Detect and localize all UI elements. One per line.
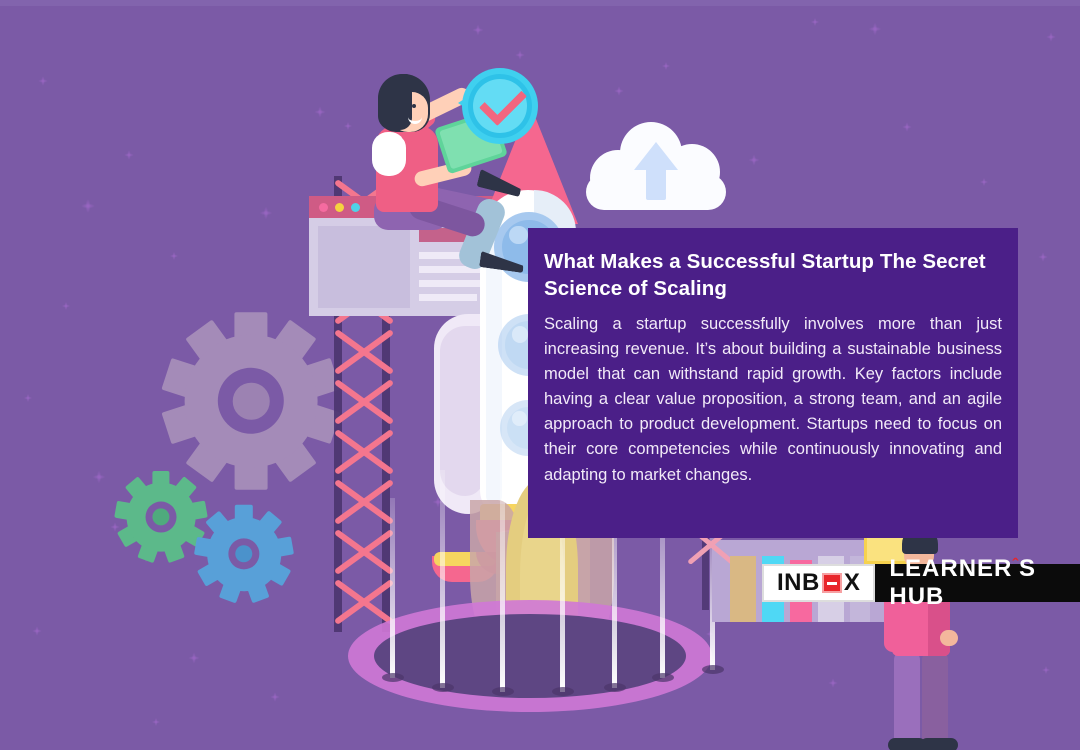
sparkle-icon <box>900 120 914 134</box>
sparkle-icon <box>78 196 98 216</box>
sparkle-icon <box>90 468 108 486</box>
beam-foot <box>702 665 724 674</box>
sparkle-icon <box>746 152 762 168</box>
man-shoe-right <box>920 738 958 750</box>
tower-x-brace <box>332 326 394 376</box>
check-badge-icon <box>462 68 538 144</box>
tower-x-brace <box>332 476 394 526</box>
logo-inbox-block: INBX <box>762 564 875 602</box>
upload-arrow-icon <box>634 142 678 200</box>
logo-learner: LEARNER <box>889 555 1012 582</box>
light-beam <box>390 498 395 678</box>
sparkle-icon <box>122 148 136 162</box>
sparkle-icon <box>36 74 50 88</box>
man-hand <box>940 630 958 646</box>
woman-hair-front <box>378 74 412 130</box>
sparkle-icon <box>978 176 990 188</box>
tower-x-brace <box>332 376 394 426</box>
gear-pin <box>233 383 270 420</box>
chart-bar <box>730 556 756 622</box>
sparkle-icon <box>257 204 275 222</box>
woman-eye <box>412 104 416 108</box>
logo-box-icon <box>822 573 842 593</box>
logo-inb: INB <box>777 569 820 597</box>
page-title: What Makes a Successful Startup The Secr… <box>544 248 1002 302</box>
light-beam <box>500 452 505 692</box>
sparkle-icon <box>470 22 486 38</box>
sparkle-icon <box>150 716 162 728</box>
logo-learners-hub-text: LEARNERˆS HUB <box>889 555 1066 611</box>
beam-foot <box>552 687 574 696</box>
logo-learners-hub-block: LEARNERˆS HUB <box>875 564 1080 602</box>
beam-foot <box>432 683 454 692</box>
arrow-shaft <box>646 166 666 200</box>
sparkle-icon <box>513 48 527 62</box>
sparkle-icon <box>268 690 282 704</box>
sparkle-icon <box>866 20 884 38</box>
browser-dot-minimize-icon <box>335 203 344 212</box>
beam-foot <box>652 673 674 682</box>
launch-platform <box>348 600 712 712</box>
sparkle-icon <box>186 650 202 666</box>
article-card: What Makes a Successful Startup The Secr… <box>528 228 1018 538</box>
sparkle-icon <box>60 300 72 312</box>
beam-foot <box>492 687 514 696</box>
top-accent-strip <box>0 0 1080 6</box>
tower-x-brace <box>332 426 394 476</box>
poster-canvas: What Makes a Successful Startup The Secr… <box>0 0 1080 750</box>
sparkle-icon <box>168 250 180 262</box>
browser-dot-close-icon <box>319 203 328 212</box>
tower-x-brace <box>332 526 394 576</box>
brand-logo[interactable]: INBX LEARNERˆS HUB <box>762 564 1080 602</box>
beam-foot <box>604 683 626 692</box>
man-leg-left <box>894 650 920 750</box>
sparkle-icon <box>312 104 328 120</box>
logo-apostrophe: ˆ <box>1012 555 1019 574</box>
sparkle-icon <box>30 624 44 638</box>
sparkle-icon <box>1044 30 1058 44</box>
light-beam <box>440 470 445 688</box>
sparkle-icon <box>826 676 840 690</box>
sparkle-icon <box>809 16 821 28</box>
platform-inner <box>374 614 686 698</box>
article-body: Scaling a startup successfully involves … <box>544 312 1002 488</box>
gear-large <box>168 318 334 484</box>
man-leg-right <box>922 650 948 750</box>
gear-blue <box>198 508 290 600</box>
beam-foot <box>382 673 404 682</box>
gear-green <box>118 474 204 560</box>
woman-sleeve <box>372 132 406 176</box>
sparkle-icon <box>1036 250 1050 264</box>
sparkle-icon <box>660 60 672 72</box>
logo-inbox-text: INBX <box>777 569 860 597</box>
sparkle-icon <box>1040 664 1052 676</box>
logo-x: X <box>844 569 861 597</box>
sparkle-icon <box>612 84 626 98</box>
sparkle-icon <box>22 392 34 404</box>
woman-shoe <box>476 169 523 197</box>
